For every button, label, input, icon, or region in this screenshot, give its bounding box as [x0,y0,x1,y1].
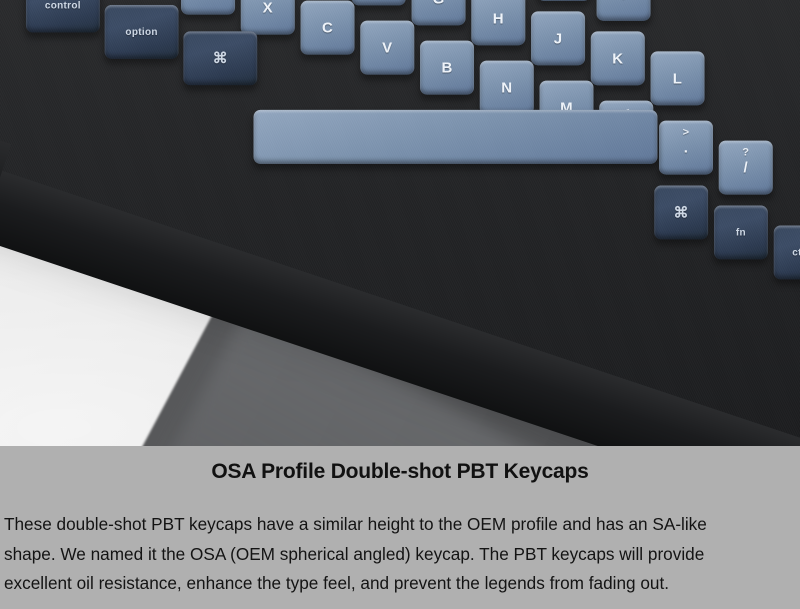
key-j[interactable]: J [531,11,585,65]
key-g[interactable]: G [412,0,466,25]
product-description: These double-shot PBT keycaps have a sim… [0,484,800,599]
key-comma[interactable]: < , [599,101,653,155]
key-l[interactable]: L [651,51,705,105]
key-h-legend: H [493,10,504,27]
key-x-legend: X [263,0,273,16]
key-spacebar[interactable] [253,110,657,164]
key-i[interactable]: I [597,0,651,21]
product-description-panel: OSA Profile Double-shot PBT Keycaps Thes… [0,446,800,609]
key-c-legend: C [322,19,333,36]
key-slash-shift: ? [719,147,773,159]
key-n-legend: N [501,79,512,96]
key-period-shift: > [659,127,713,139]
key-ctrl[interactable]: ctrl [774,225,800,279]
key-fn-legend: fn [736,227,746,238]
key-control[interactable]: control [26,0,100,33]
key-control-legend: control [45,0,81,11]
key-command-right[interactable]: ⌘ [654,185,708,239]
number-row: ~ ` ! 1 @ 2 # 3 [99,0,800,48]
key-l-legend: L [673,70,682,87]
key-ctrl-legend: ctrl [792,247,800,258]
key-b-legend: B [441,59,452,76]
key-slash-legend: / [744,159,748,176]
key-v-legend: V [382,39,392,56]
key-k[interactable]: K [591,31,645,85]
key-z[interactable]: Z [181,0,235,15]
product-detail-page: esc ☀ F1 ☀ F2 ⊞ F3 [0,0,800,609]
top-letter-row: tab Q W E R T Y U I [79,0,800,107]
key-i-legend: I [621,0,625,2]
key-g-legend: G [433,0,445,7]
key-comma-legend: , [624,119,628,136]
key-slash[interactable]: ? / [719,141,773,195]
command-icon: ⌘ [213,49,228,67]
description-line-1: These double-shot PBT keycaps have a sim… [4,510,800,540]
key-b[interactable]: B [420,41,474,95]
key-fn[interactable]: fn [714,205,768,259]
key-u[interactable]: U [537,0,591,1]
product-photo: esc ☀ F1 ☀ F2 ⊞ F3 [0,0,800,446]
page-title: OSA Profile Double-shot PBT Keycaps [0,446,800,484]
key-option-left[interactable]: option [105,5,179,59]
key-k-legend: K [612,50,623,67]
case-top-highlight [31,0,800,6]
key-comma-shift: < [599,107,653,119]
key-n[interactable]: N [480,61,534,115]
description-line-3: excellent oil resistance, enhance the ty… [4,569,800,599]
key-h[interactable]: H [471,0,525,45]
key-period[interactable]: > . [659,121,713,175]
key-m[interactable]: M [540,81,594,135]
key-command-left[interactable]: ⌘ [183,31,257,85]
key-x[interactable]: X [241,0,295,35]
key-period-legend: . [684,139,688,156]
key-j-legend: J [554,30,563,47]
key-f[interactable]: F [352,0,406,5]
key-v[interactable]: V [360,21,414,75]
command-icon-right: ⌘ [674,203,689,221]
description-line-2: shape. We named it the OSA (OEM spherica… [4,540,800,570]
key-c[interactable]: C [301,1,355,55]
bottom-letter-row: ⇧ shift Z X C V B N M < , [39,0,800,227]
key-m-legend: M [560,99,573,116]
home-row: caps lock A S D F G H J K L [59,0,800,167]
key-option-left-legend: option [125,26,157,37]
